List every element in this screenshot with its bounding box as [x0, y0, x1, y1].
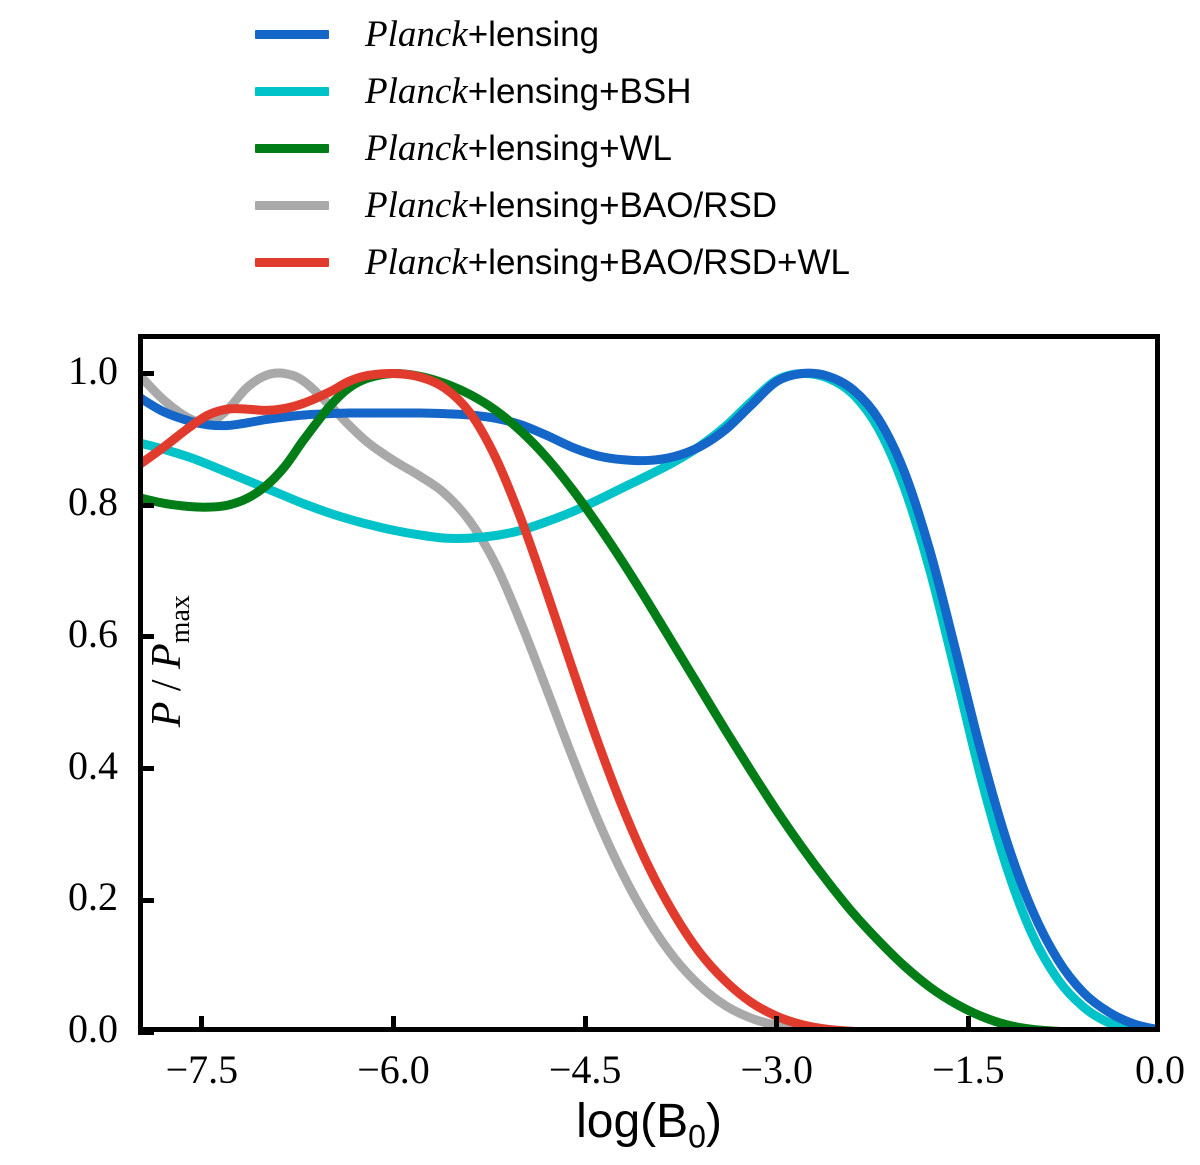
y-tick-1 — [138, 898, 154, 903]
y-label-slash: / — [144, 669, 190, 702]
plot-area: 0.00.20.40.60.81.0 −7.5−6.0−4.5−3.0−1.50… — [138, 334, 1160, 1032]
legend-label-italic: Planck — [365, 242, 468, 283]
figure-root: Planck+lensingPlanck+lensing+BSHPlanck+l… — [0, 0, 1200, 1165]
legend-item-planck-lensing-bao-rsd-wl[interactable]: Planck+lensing+BAO/RSD+WL — [255, 234, 1055, 291]
legend-label-planck-lensing-bao-rsd-wl: Planck+lensing+BAO/RSD+WL — [365, 241, 850, 284]
x-label-sub: 0 — [688, 1119, 706, 1155]
y-tick-label-1: 0.2 — [0, 873, 118, 920]
legend-label-rest: +lensing+BAO/RSD+WL — [468, 243, 850, 282]
legend-label-italic: Planck — [365, 71, 468, 112]
legend-swatch-planck-lensing-wl — [255, 144, 329, 153]
legend-swatch-planck-lensing — [255, 30, 329, 39]
legend-label-planck-lensing: Planck+lensing — [365, 13, 599, 56]
legend-label-planck-lensing-wl: Planck+lensing+WL — [365, 127, 672, 170]
legend-item-planck-lensing-bsh[interactable]: Planck+lensing+BSH — [255, 63, 1055, 120]
legend: Planck+lensingPlanck+lensing+BSHPlanck+l… — [255, 6, 1055, 291]
y-tick-label-4: 0.8 — [0, 478, 118, 525]
y-tick-label-5: 1.0 — [0, 347, 118, 394]
legend-item-planck-lensing[interactable]: Planck+lensing — [255, 6, 1055, 63]
x-label-close: ) — [706, 1095, 722, 1148]
x-tick-0 — [199, 1016, 204, 1032]
legend-label-italic: Planck — [365, 128, 468, 169]
legend-label-rest: +lensing+BAO/RSD — [468, 186, 777, 225]
x-axis-label: log(B0) — [138, 1094, 1160, 1156]
axes-frame — [138, 334, 1160, 1032]
y-tick-4 — [138, 503, 154, 508]
y-label-denominator-sub: max — [165, 595, 196, 643]
x-tick-label-5: 0.0 — [1080, 1046, 1200, 1093]
x-tick-1 — [391, 1016, 396, 1032]
y-tick-label-2: 0.4 — [0, 742, 118, 789]
y-tick-5 — [138, 371, 154, 376]
legend-item-planck-lensing-wl[interactable]: Planck+lensing+WL — [255, 120, 1055, 177]
x-tick-5 — [1155, 1016, 1160, 1032]
x-tick-label-0: −7.5 — [122, 1046, 282, 1093]
legend-label-rest: +lensing+BSH — [468, 72, 692, 111]
y-tick-label-3: 0.6 — [0, 610, 118, 657]
legend-label-planck-lensing-bsh: Planck+lensing+BSH — [365, 70, 692, 113]
y-axis-label: P / Pmax — [143, 511, 197, 811]
x-tick-2 — [583, 1016, 588, 1032]
legend-item-planck-lensing-bao-rsd[interactable]: Planck+lensing+BAO/RSD — [255, 177, 1055, 234]
legend-swatch-planck-lensing-bao-rsd-wl — [255, 258, 329, 267]
x-label-main: log(B — [576, 1095, 688, 1148]
legend-label-italic: Planck — [365, 14, 468, 55]
y-label-denominator: P — [144, 643, 190, 669]
y-tick-label-0: 0.0 — [0, 1005, 118, 1052]
legend-swatch-planck-lensing-bsh — [255, 87, 329, 96]
y-tick-0 — [138, 1030, 154, 1035]
legend-swatch-planck-lensing-bao-rsd — [255, 201, 329, 210]
x-tick-3 — [774, 1016, 779, 1032]
x-tick-4 — [966, 1016, 971, 1032]
x-tick-label-1: −6.0 — [314, 1046, 474, 1093]
x-tick-label-3: −3.0 — [697, 1046, 857, 1093]
x-tick-label-4: −1.5 — [888, 1046, 1048, 1093]
legend-label-rest: +lensing+WL — [468, 129, 672, 168]
legend-label-planck-lensing-bao-rsd: Planck+lensing+BAO/RSD — [365, 184, 777, 227]
x-tick-label-2: −4.5 — [505, 1046, 665, 1093]
legend-label-italic: Planck — [365, 185, 468, 226]
legend-label-rest: +lensing — [468, 15, 599, 54]
y-label-numerator: P — [144, 702, 190, 728]
